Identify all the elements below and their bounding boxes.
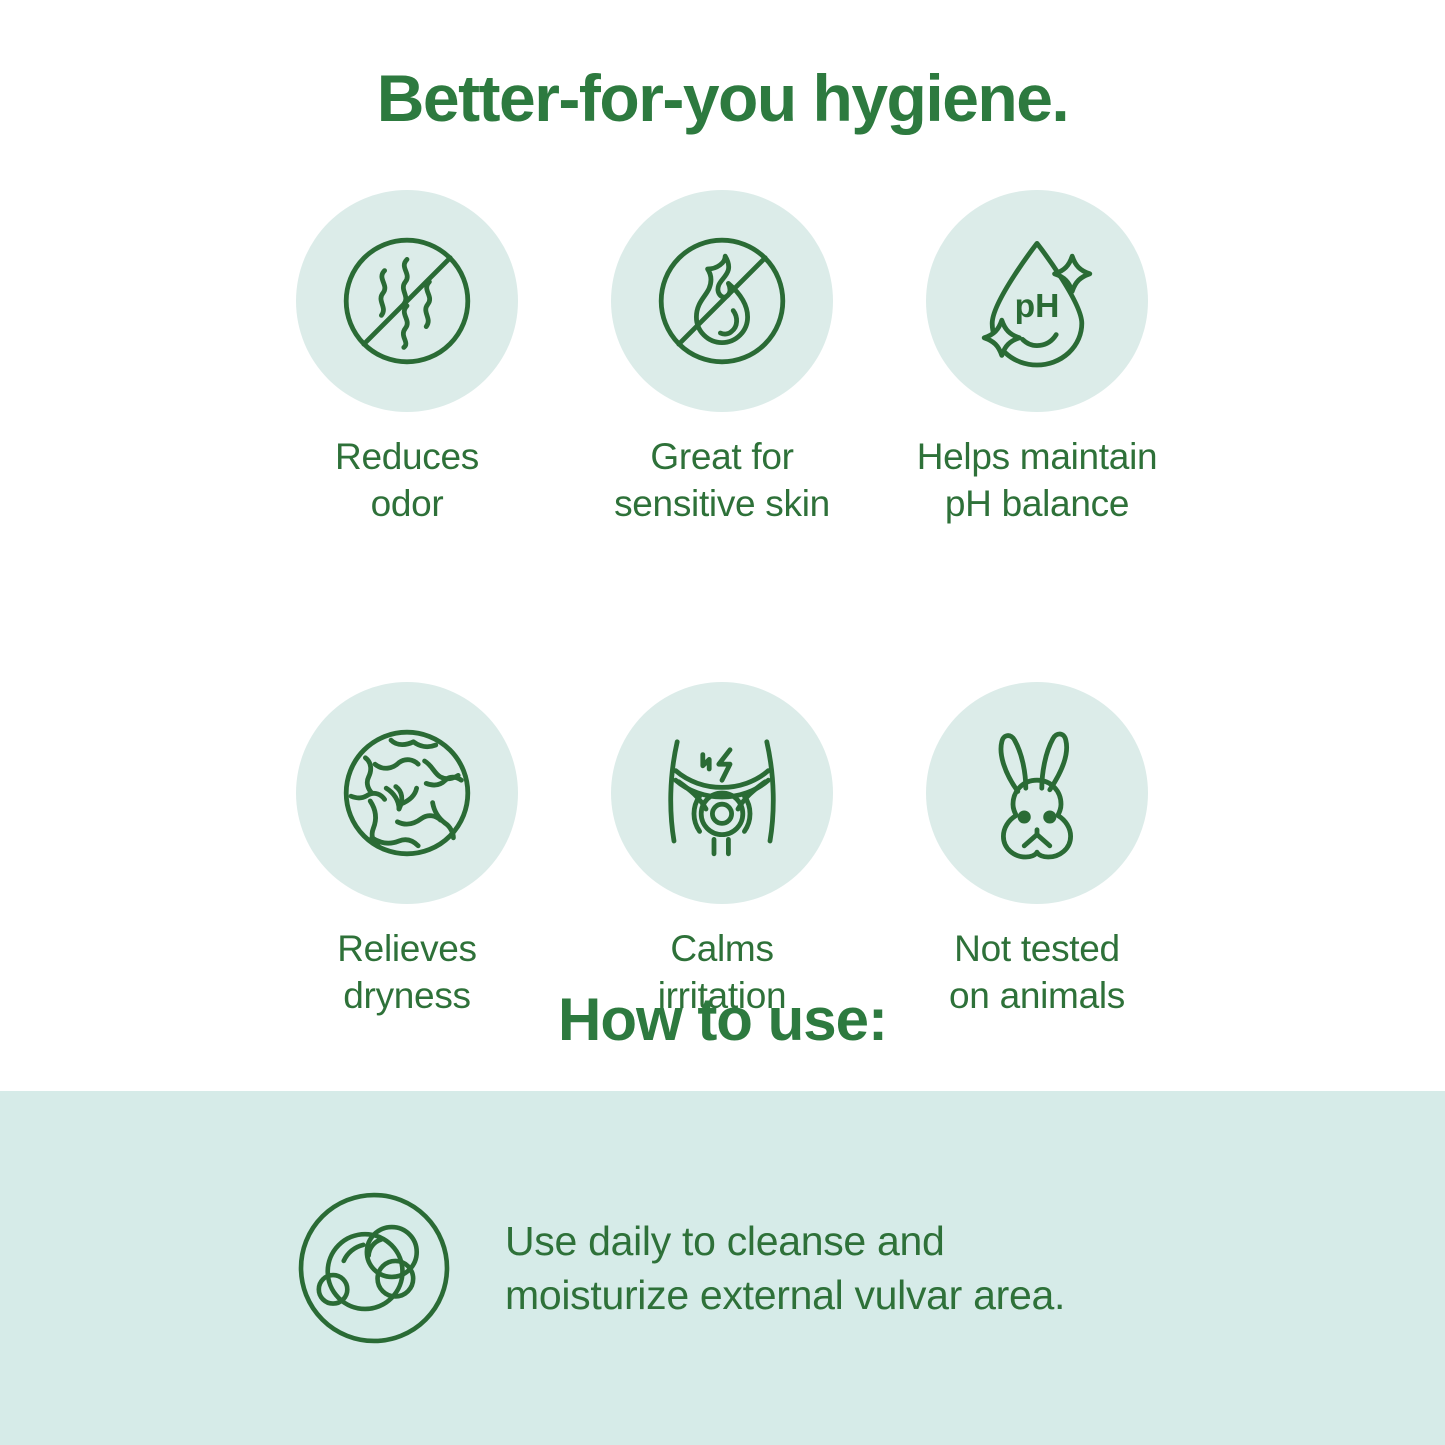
benefit-label: Great for sensitive skin: [614, 434, 830, 527]
benefits-grid: Reduces odor Great for sensitive skin: [262, 190, 1182, 1019]
irritation-hips-icon: [611, 682, 833, 904]
infographic-page: Better-for-you hygiene. Reduces odor: [0, 0, 1445, 1445]
no-odor-icon: [296, 190, 518, 412]
benefit-label: Helps maintain pH balance: [917, 434, 1158, 527]
benefit-sensitive-skin: Great for sensitive skin: [577, 190, 867, 527]
benefit-not-tested-animals: Not tested on animals: [892, 682, 1182, 1019]
benefit-ph-balance: pH Helps maintain pH balance: [892, 190, 1182, 527]
ph-droplet-icon: pH: [926, 190, 1148, 412]
usage-panel: Use daily to cleanse and moisturize exte…: [0, 1091, 1445, 1445]
benefit-calms-irritation: Calms irritation: [577, 682, 867, 1019]
how-to-use-heading: How to use:: [0, 985, 1445, 1054]
benefit-relieves-dryness: Relieves dryness: [262, 682, 552, 1019]
benefits-row-1: Reduces odor Great for sensitive skin: [262, 190, 1182, 527]
usage-instruction: Use daily to cleanse and moisturize exte…: [505, 1214, 1065, 1322]
benefit-reduces-odor: Reduces odor: [262, 190, 552, 527]
benefits-row-2: Relieves dryness: [262, 682, 1182, 1019]
page-title: Better-for-you hygiene.: [0, 62, 1445, 135]
dry-skin-icon: [296, 682, 518, 904]
ph-text: pH: [1015, 288, 1060, 325]
no-flame-icon: [611, 190, 833, 412]
benefit-label: Reduces odor: [335, 434, 479, 527]
rabbit-icon: [926, 682, 1148, 904]
bubbles-icon: [285, 1179, 463, 1357]
